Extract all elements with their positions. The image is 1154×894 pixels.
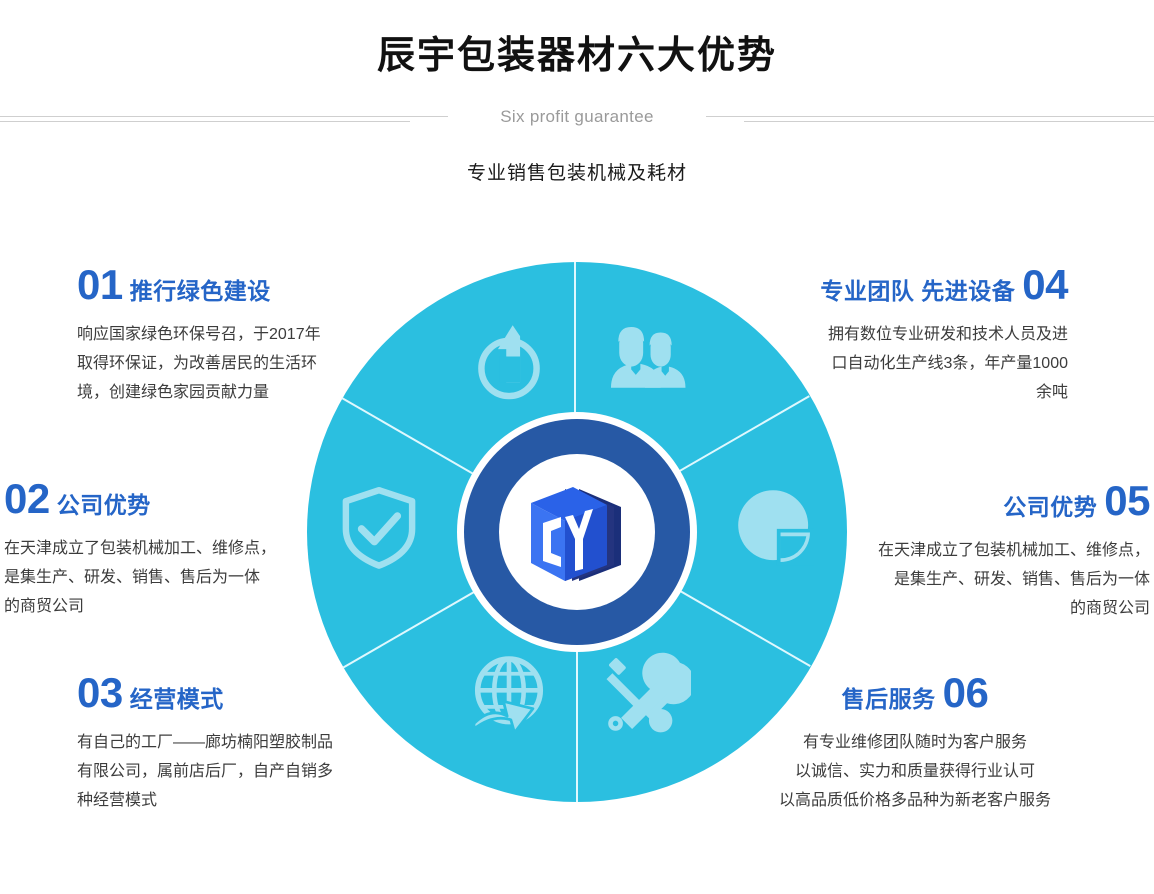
six-segment-wheel <box>307 262 847 802</box>
feature-body: 响应国家绿色环保号召，于2017年 取得环保证，为改善居民的生活环 境，创建绿色… <box>77 320 367 407</box>
eco-growth-icon <box>459 312 559 412</box>
feature-block-06: 售后服务 06 有专业维修团队随时为客户服务 以诚信、实力和质量获得行业认可 以… <box>770 672 1060 815</box>
feature-heading: 02 公司优势 <box>4 478 294 520</box>
page-tagline: 专业销售包装机械及耗材 <box>0 158 1154 185</box>
hub-center <box>499 454 655 610</box>
feature-number: 04 <box>1022 264 1068 306</box>
page-title: 辰宇包装器材六大优势 <box>0 34 1154 80</box>
feature-number: 01 <box>77 264 123 306</box>
feature-heading: 01 推行绿色建设 <box>77 264 367 306</box>
feature-body: 有专业维修团队随时为客户服务 以诚信、实力和质量获得行业认可 以高品质低价格多品… <box>770 728 1060 815</box>
page-header: 辰宇包装器材六大优势 Six profit guarantee 专业销售包装机械… <box>0 0 1154 185</box>
feature-block-04: 专业团队 先进设备 04 拥有数位专业研发和技术人员及进 口自动化生产线3条，年… <box>783 264 1068 407</box>
shield-check-icon <box>329 477 429 577</box>
divider-line-right-upper <box>706 116 1154 117</box>
feature-body: 在天津成立了包装机械加工、维修点， 是集生产、研发、销售、售后为一体 的商贸公司 <box>4 534 294 621</box>
divider-line-left-lower <box>0 121 410 122</box>
feature-title: 专业团队 先进设备 <box>820 272 1015 306</box>
feature-number: 06 <box>943 672 989 714</box>
package-box-logo <box>517 477 637 587</box>
team-people-icon <box>595 312 695 412</box>
feature-title: 售后服务 <box>842 680 936 714</box>
tools-wrench-icon <box>595 644 695 744</box>
feature-block-02: 02 公司优势 在天津成立了包装机械加工、维修点， 是集生产、研发、销售、售后为… <box>4 478 294 621</box>
divider-line-right-lower <box>744 121 1154 122</box>
feature-heading: 03 经营模式 <box>77 672 377 714</box>
feature-heading: 公司优势 05 <box>858 480 1150 522</box>
feature-title: 经营模式 <box>130 680 224 714</box>
feature-number: 05 <box>1104 480 1150 522</box>
feature-number: 03 <box>77 672 123 714</box>
feature-body: 有自己的工厂——廊坊楠阳塑胶制品 有限公司，属前店后厂，自产自销多 种经营模式 <box>77 728 377 815</box>
subtitle-divider-row: Six profit guarantee <box>0 102 1154 132</box>
feature-title: 公司优势 <box>57 486 151 520</box>
feature-body: 拥有数位专业研发和技术人员及进 口自动化生产线3条，年产量1000 余吨 <box>783 320 1068 407</box>
globe-arrow-icon <box>459 644 559 744</box>
feature-number: 02 <box>4 478 50 520</box>
feature-heading: 专业团队 先进设备 04 <box>783 264 1068 306</box>
feature-body: 在天津成立了包装机械加工、维修点， 是集生产、研发、销售、售后为一体 的商贸公司 <box>858 536 1150 623</box>
pie-chart-icon <box>725 477 825 577</box>
divider-line-left-upper <box>0 116 448 117</box>
feature-block-05: 公司优势 05 在天津成立了包装机械加工、维修点， 是集生产、研发、销售、售后为… <box>858 480 1150 623</box>
feature-title: 公司优势 <box>1003 488 1097 522</box>
page-subtitle-english: Six profit guarantee <box>478 102 675 132</box>
feature-block-03: 03 经营模式 有自己的工厂——廊坊楠阳塑胶制品 有限公司，属前店后厂，自产自销… <box>77 672 377 815</box>
feature-block-01: 01 推行绿色建设 响应国家绿色环保号召，于2017年 取得环保证，为改善居民的… <box>77 264 367 407</box>
feature-title: 推行绿色建设 <box>130 272 271 306</box>
feature-heading: 售后服务 06 <box>770 672 1060 714</box>
